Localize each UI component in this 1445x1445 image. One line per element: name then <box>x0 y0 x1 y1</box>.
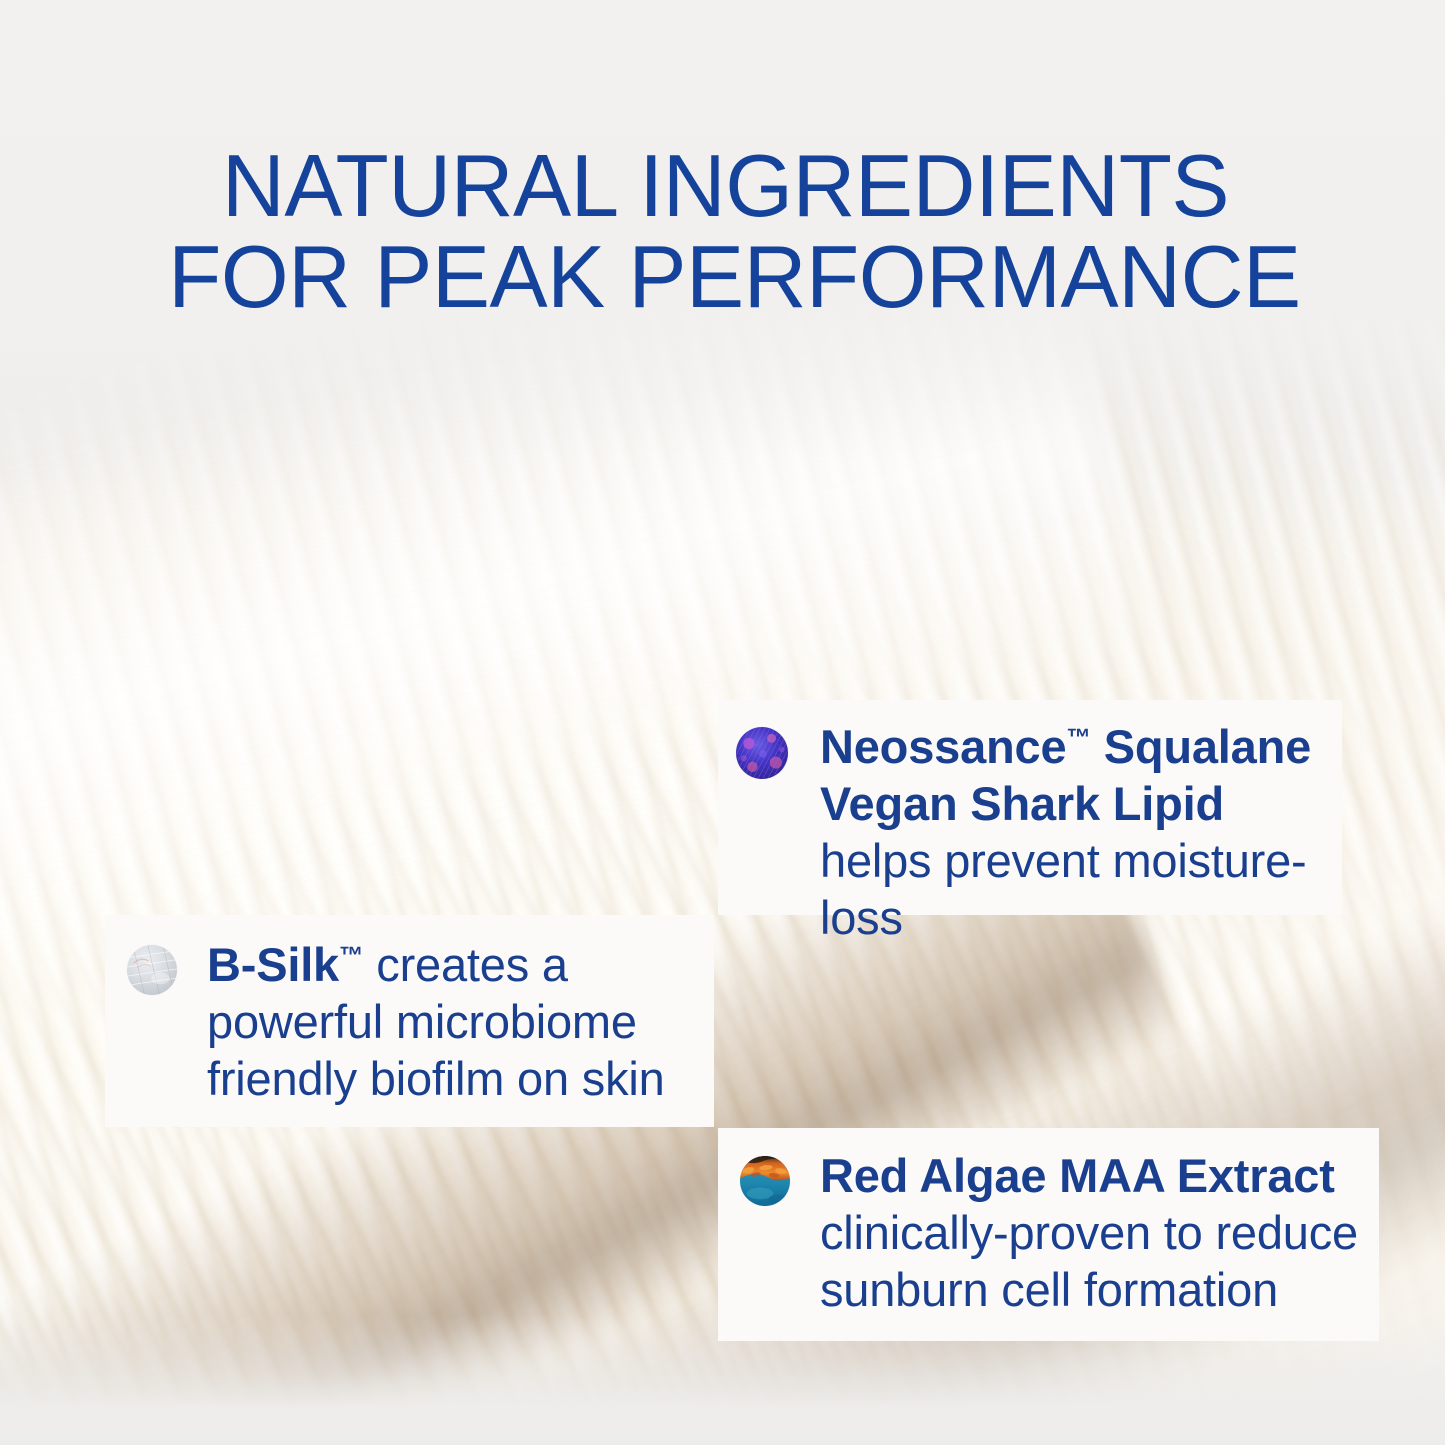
page-title-line-1: NATURAL INGREDIENTS <box>7 141 1438 232</box>
page-title: NATURAL INGREDIENTS FOR PEAK PERFORMANCE <box>7 141 1438 322</box>
ingredient-benefit-redalgae: clinically-proven to reduce sunburn cell… <box>820 1206 1358 1316</box>
ingredient-description-redalgae: Red Algae MAA Extract clinically-proven … <box>820 1147 1370 1318</box>
neossance-squalane-icon <box>736 727 788 779</box>
ingredient-card-squalane: Neossance™ Squalane Vegan Shark Lipid he… <box>718 700 1342 915</box>
red-algae-maa-extract-icon <box>740 1156 790 1206</box>
ingredient-name-bsilk: B-Silk™ <box>207 938 363 991</box>
b-silk-icon <box>127 945 177 995</box>
ingredient-description-squalane: Neossance™ Squalane Vegan Shark Lipid he… <box>820 718 1330 946</box>
ingredient-description-bsilk: B-Silk™ creates a powerful microbiome fr… <box>207 936 707 1107</box>
ingredient-benefit-squalane: helps prevent moisture-loss <box>820 834 1307 944</box>
page-title-line-2: FOR PEAK PERFORMANCE <box>7 232 1438 323</box>
ingredient-name-squalane: Neossance™ Squalane Vegan Shark Lipid <box>820 720 1311 830</box>
ingredient-card-bsilk: B-Silk™ creates a powerful microbiome fr… <box>105 915 714 1127</box>
ingredient-infographic: NATURAL INGREDIENTS FOR PEAK PERFORMANCE <box>0 0 1445 1445</box>
ingredient-name-redalgae: Red Algae MAA Extract <box>820 1149 1335 1202</box>
ingredient-card-redalgae: Red Algae MAA Extract clinically-proven … <box>718 1128 1379 1341</box>
